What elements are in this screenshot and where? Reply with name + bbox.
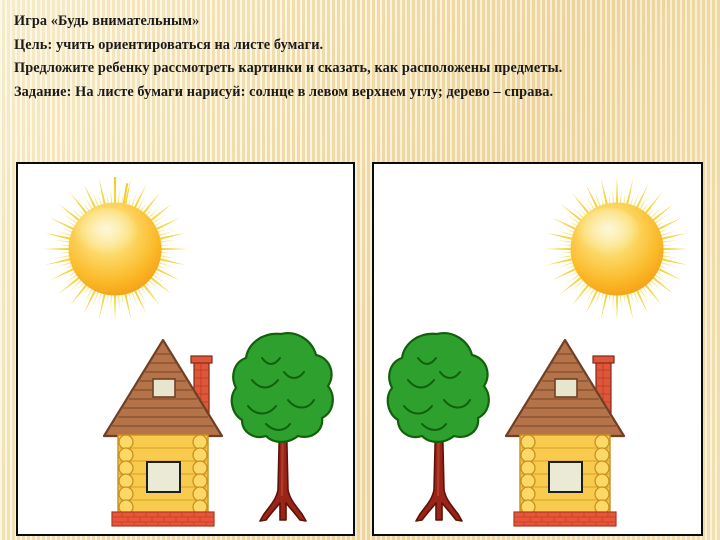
task-line: Задание: На листе бумаги нарисуй: солнце…	[14, 81, 714, 105]
house-illustration	[100, 332, 230, 532]
tree-foliage	[232, 333, 333, 442]
tree-illustration	[226, 328, 344, 528]
scene-left	[18, 164, 353, 534]
description-line: Предложите ребенку рассмотреть картинки …	[14, 57, 714, 81]
picture-panel-left[interactable]	[16, 162, 355, 536]
brick-foundation	[112, 512, 214, 526]
slide-canvas: Игра «Будь внимательным» Цель: учить ори…	[0, 0, 720, 540]
log-wall	[118, 435, 208, 514]
log-wall	[520, 435, 610, 514]
game-title: Игра «Будь внимательным»	[14, 10, 714, 34]
task-text: На листе бумаги нарисуй: солнце в левом …	[71, 84, 553, 100]
instruction-text-block: Игра «Будь внимательным» Цель: учить ори…	[14, 10, 714, 104]
goal-label: Цель:	[14, 37, 52, 53]
picture-panel-right[interactable]	[372, 162, 703, 536]
sun-icon	[40, 174, 190, 324]
goal-line: Цель: учить ориентироваться на листе бум…	[14, 34, 714, 58]
tree-foliage	[388, 333, 489, 442]
brick-foundation	[514, 512, 616, 526]
tree-illustration	[382, 328, 500, 528]
task-label: Задание:	[14, 84, 71, 100]
goal-text: учить ориентироваться на листе бумаги.	[52, 37, 323, 53]
house-illustration	[502, 332, 632, 532]
scene-right	[374, 164, 701, 534]
sun-icon	[542, 174, 692, 324]
